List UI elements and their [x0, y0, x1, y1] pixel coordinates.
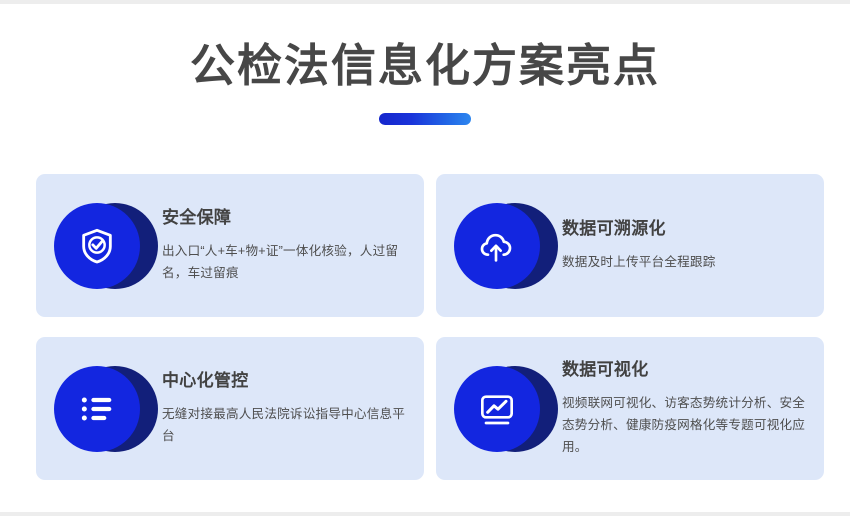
heading-block: 公检法信息化方案亮点: [0, 4, 850, 125]
card-text: 安全保障 出入口“人+车+物+证”一体化核验，人过留名，车过留痕: [162, 207, 414, 284]
title-underline-accent: [379, 113, 471, 125]
highlight-card-grid: 安全保障 出入口“人+车+物+证”一体化核验，人过留名，车过留痕 数据可溯源化 …: [36, 174, 814, 480]
card-description: 出入口“人+车+物+证”一体化核验，人过留名，车过留痕: [162, 240, 410, 284]
chart-monitor-icon: [477, 389, 517, 429]
icon-badge: [450, 362, 550, 456]
icon-circle: [54, 203, 140, 289]
icon-circle: [54, 366, 140, 452]
bulleted-list-icon: [77, 389, 117, 429]
card-text: 中心化管控 无缝对接最高人民法院诉讼指导中心信息平台: [162, 370, 414, 447]
cloud-upload-icon: [477, 226, 517, 266]
card-title: 数据可溯源化: [562, 218, 810, 240]
card-description: 无缝对接最高人民法院诉讼指导中心信息平台: [162, 403, 410, 447]
card-title: 安全保障: [162, 207, 410, 229]
card-text: 数据可视化 视频联网可视化、访客态势统计分析、安全态势分析、健康防疫网格化等专题…: [562, 359, 814, 458]
card-title: 中心化管控: [162, 370, 410, 392]
icon-circle: [454, 203, 540, 289]
icon-badge: [50, 362, 150, 456]
card-text: 数据可溯源化 数据及时上传平台全程跟踪: [562, 218, 814, 273]
icon-badge: [50, 199, 150, 293]
highlight-card-safety[interactable]: 安全保障 出入口“人+车+物+证”一体化核验，人过留名，车过留痕: [36, 174, 424, 317]
card-title: 数据可视化: [562, 359, 810, 381]
page-title: 公检法信息化方案亮点: [0, 40, 850, 92]
highlight-card-visualization[interactable]: 数据可视化 视频联网可视化、访客态势统计分析、安全态势分析、健康防疫网格化等专题…: [436, 337, 824, 480]
highlight-card-traceability[interactable]: 数据可溯源化 数据及时上传平台全程跟踪: [436, 174, 824, 317]
bottom-edge-strip: [0, 512, 850, 516]
card-description: 数据及时上传平台全程跟踪: [562, 251, 810, 273]
card-description: 视频联网可视化、访客态势统计分析、安全态势分析、健康防疫网格化等专题可视化应用。: [562, 392, 810, 458]
icon-badge: [450, 199, 550, 293]
icon-circle: [454, 366, 540, 452]
shield-check-icon: [77, 226, 117, 266]
highlight-card-centralized-control[interactable]: 中心化管控 无缝对接最高人民法院诉讼指导中心信息平台: [36, 337, 424, 480]
page-container: 公检法信息化方案亮点 安全保障 出入口“人+车+物+证”一体化核验，人过留名，车…: [0, 4, 850, 512]
